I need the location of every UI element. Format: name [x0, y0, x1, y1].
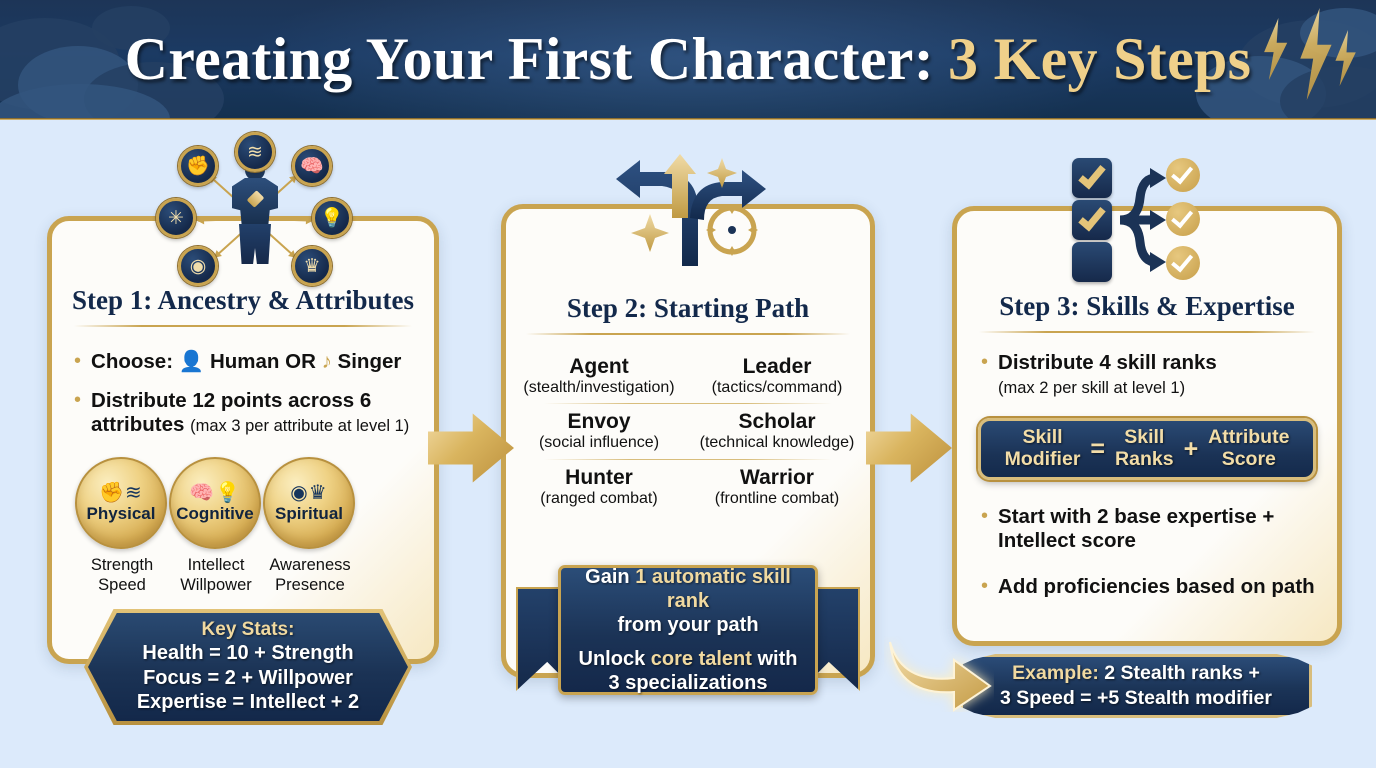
- attribute-cognitive-label: Cognitive: [176, 504, 253, 524]
- step-1-title: Step 1: Ancestry & Attributes: [52, 285, 434, 316]
- step-1-bullet-1: • Choose: 👤 Human OR ♪ Singer: [74, 350, 424, 374]
- path-hunter: Hunter (ranged combat): [510, 466, 688, 508]
- skill-ranks-note: (max 2 per skill at level 1): [998, 379, 1185, 397]
- step-2-divider: [526, 333, 850, 335]
- path-scholar: Scholar (technical knowledge): [688, 410, 866, 452]
- connector-arrow-2: [866, 412, 952, 484]
- skill-modifier-formula: Skill Modifier = Skill Ranks + Attribute…: [978, 418, 1316, 480]
- skill-ranks-text: Distribute 4 skill ranks: [998, 351, 1217, 374]
- step-1-bullet-2: • Distribute 12 points across 6 attribut…: [74, 389, 424, 437]
- page-title-accent: 3 Key Steps: [948, 25, 1251, 94]
- choose-label: Choose:: [91, 350, 173, 373]
- attribute-spiritual-names: Awareness Presence: [263, 555, 357, 595]
- connector-arrow-1: [428, 412, 514, 484]
- path-warrior: Warrior (frontline combat): [688, 466, 866, 508]
- brain-icon: 🧠: [292, 146, 332, 186]
- eye-crown-icon: ◉♛: [290, 483, 327, 503]
- check-circle-icon: [1166, 158, 1200, 192]
- branching-path-compass-icon: [610, 148, 770, 266]
- wind-icon: ≋: [235, 132, 275, 172]
- example-line-1: Example: 2 Stealth ranks +: [1012, 661, 1260, 686]
- music-note-icon: ♪: [322, 350, 332, 373]
- check-circle-icon: [1166, 246, 1200, 280]
- attribute-spiritual-label: Spiritual: [275, 504, 343, 524]
- formula-term-attribute-score: Attribute Score: [1208, 427, 1289, 471]
- base-expertise-text: Start with 2 base expertise + Intellect …: [998, 505, 1331, 553]
- attribute-physical: ✊≋ Physical: [75, 457, 167, 549]
- key-stat-expertise: Expertise = Intellect + 2: [137, 690, 359, 715]
- starburst-icon: ✳: [156, 198, 196, 238]
- eye-icon: ◉: [178, 246, 218, 286]
- ancestry-option-singer: Singer: [338, 350, 402, 373]
- step-3-bullet-3: • Add proficiencies based on path: [981, 575, 1331, 599]
- path-leader: Leader (tactics/command): [688, 355, 866, 397]
- ribbon-line-2: from your path: [617, 613, 758, 637]
- key-stats-heading: Key Stats:: [202, 619, 295, 641]
- key-stat-health: Health = 10 + Strength: [142, 641, 353, 666]
- brain-bulb-icon: 🧠💡: [189, 483, 241, 503]
- bullet-dot-icon: •: [981, 575, 988, 599]
- formula-term-skill-modifier: Skill Modifier: [1005, 427, 1081, 471]
- formula-plus: +: [1184, 435, 1199, 464]
- example-line-2: 3 Speed = +5 Stealth modifier: [1000, 686, 1272, 711]
- checkbox-unchecked-icon: [1072, 242, 1112, 282]
- path-divider: [544, 459, 832, 460]
- attribute-spiritual: ◉♛ Spiritual: [263, 457, 355, 549]
- path-envoy: Envoy (social influence): [510, 410, 688, 452]
- ancestry-option-human: Human OR: [210, 350, 316, 373]
- path-agent: Agent (stealth/investigation): [510, 355, 688, 397]
- attribute-cognitive: 🧠💡 Cognitive: [169, 457, 261, 549]
- attribute-physical-names: Strength Speed: [75, 555, 169, 595]
- bulb-icon: 💡: [312, 198, 352, 238]
- page-title: Creating Your First Character: 3 Key Ste…: [0, 0, 1376, 118]
- fist-icon: ✊: [178, 146, 218, 186]
- step-3-title: Step 3: Skills & Expertise: [957, 291, 1337, 322]
- crown-icon: ♛: [292, 246, 332, 286]
- formula-term-skill-ranks: Skill Ranks: [1115, 427, 1174, 471]
- path-bonus-ribbon: Gain 1 automatic skill rank from your pa…: [516, 565, 860, 713]
- bullet-dot-icon: •: [981, 505, 988, 553]
- attribute-wheel-icon: ✊ ≋ 🧠 💡 ♛ ◉ ✳: [140, 136, 370, 286]
- ribbon-line-1: Gain 1 automatic skill rank: [575, 565, 801, 614]
- person-icon: 👤: [179, 350, 205, 373]
- page-title-main: Creating Your First Character:: [125, 25, 934, 94]
- attribute-cognitive-names: Intellect Willpower: [169, 555, 263, 595]
- key-stats-banner: Key Stats: Health = 10 + Strength Focus …: [88, 613, 408, 721]
- header-divider: [0, 118, 1376, 120]
- fist-wind-icon: ✊≋: [99, 483, 143, 503]
- step-3-divider: [979, 331, 1315, 333]
- character-silhouette-icon: [232, 158, 278, 264]
- check-circle-icon: [1166, 202, 1200, 236]
- curved-arrow-icon: [884, 636, 994, 712]
- distribute-points-note: (max 3 per attribute at level 1): [190, 417, 409, 435]
- ribbon-line-3: Unlock core talent with: [579, 647, 798, 671]
- formula-equals: =: [1090, 435, 1105, 464]
- step-1-divider: [74, 325, 412, 327]
- step-3-bullet-1: • Distribute 4 skill ranks (max 2 per sk…: [981, 351, 1331, 399]
- bullet-dot-icon: •: [74, 389, 81, 437]
- step-2-title: Step 2: Starting Path: [506, 293, 870, 324]
- step-3-bullet-2: • Start with 2 base expertise + Intellec…: [981, 505, 1331, 553]
- page-header: Creating Your First Character: 3 Key Ste…: [0, 0, 1376, 120]
- key-stat-focus: Focus = 2 + Willpower: [143, 666, 353, 691]
- example-plaque: Example: 2 Stealth ranks + 3 Speed = +5 …: [960, 654, 1312, 718]
- attribute-physical-label: Physical: [87, 504, 156, 524]
- bullet-dot-icon: •: [981, 351, 988, 399]
- path-divider: [544, 403, 832, 404]
- proficiencies-text: Add proficiencies based on path: [998, 575, 1315, 599]
- ribbon-line-4: 3 specializations: [609, 671, 768, 695]
- checklist-arrows-icon: [1072, 158, 1200, 280]
- bullet-dot-icon: •: [74, 350, 81, 374]
- arrow-right-icon: [1116, 162, 1168, 274]
